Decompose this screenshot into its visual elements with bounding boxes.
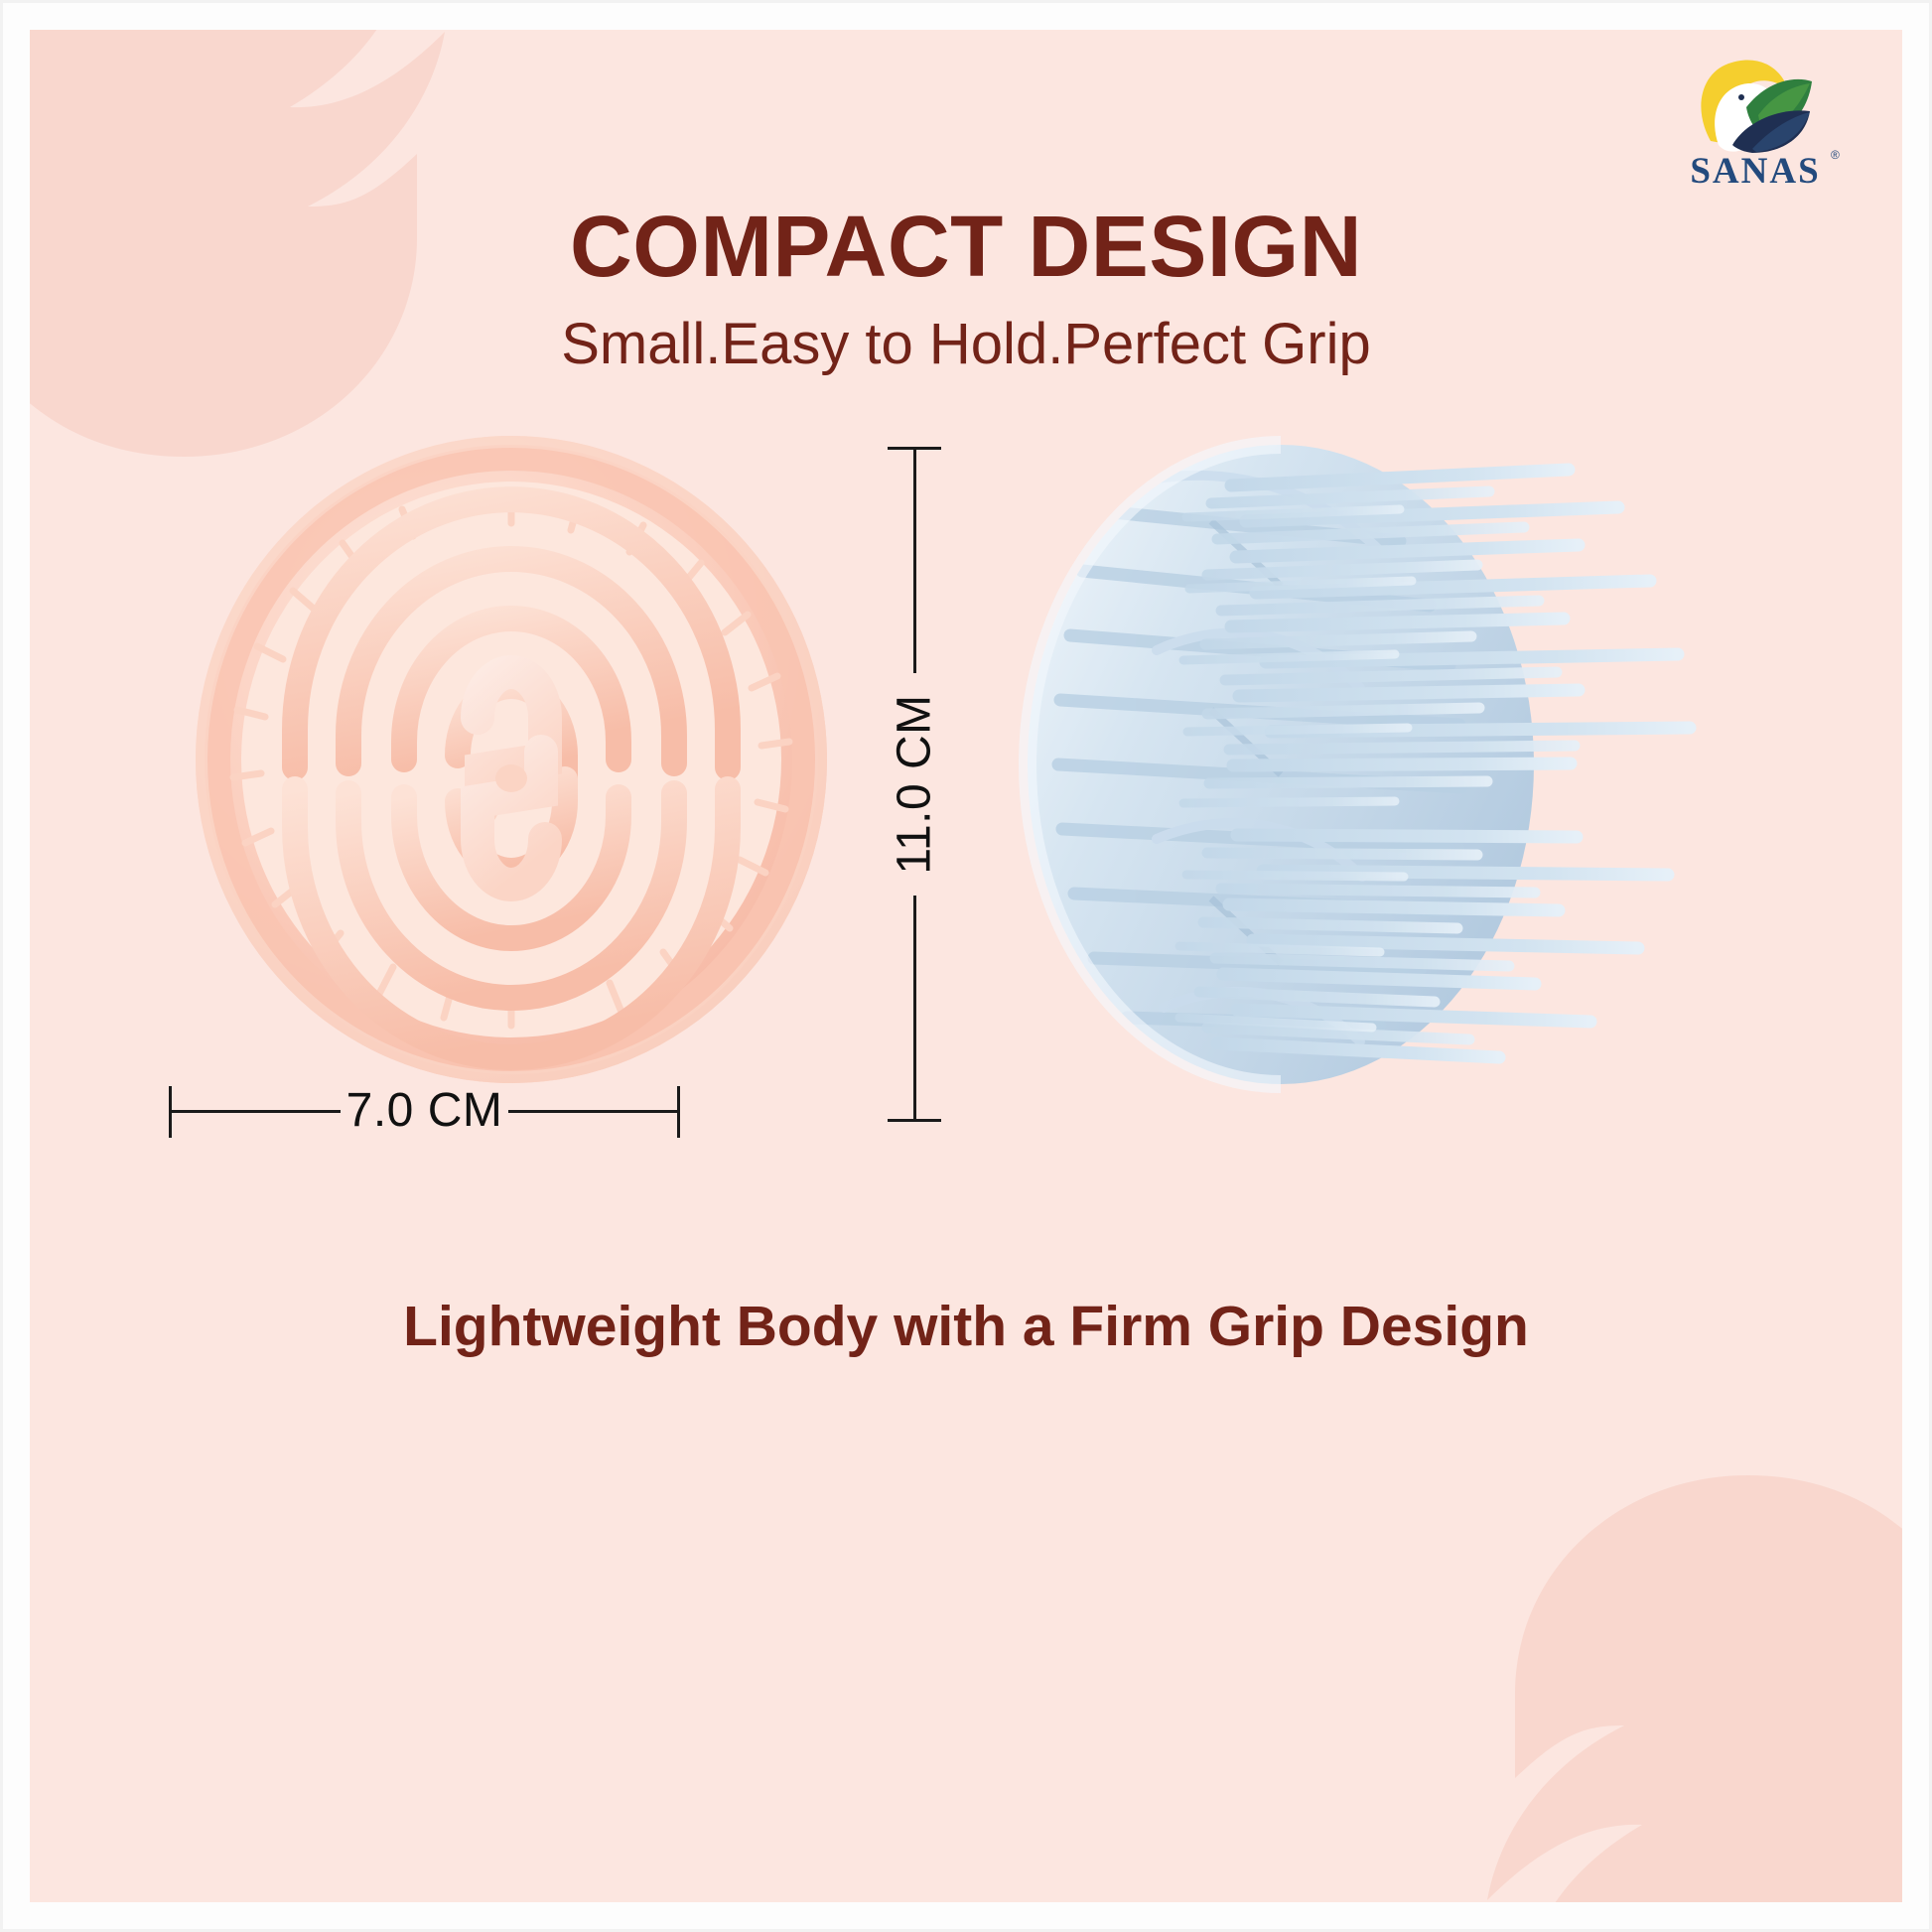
logo-registered-mark: ® [1831,148,1840,162]
width-dimension: 7.0 CM [169,1082,680,1142]
dim-cap-bottom [888,1119,941,1122]
dim-bar-top [913,450,916,673]
width-dimension-label: 7.0 CM [169,1082,680,1142]
pink-brush-center-nub [495,764,527,792]
leaf-flame-icon [1376,1436,1902,1902]
height-dimension: 11.0 CM [884,447,945,1122]
logo-dove-eye [1738,94,1744,100]
decor-leaf-bottom-right [1376,1436,1902,1902]
footer-tagline: Lightweight Body with a Firm Grip Design [30,1299,1902,1355]
pink-brush-image [184,432,839,1087]
height-dimension-label: 11.0 CM [888,694,942,874]
blue-brush-image [983,422,1876,1107]
sanas-brand-logo: SANAS ® [1649,50,1863,189]
logo-wordmark: SANAS [1690,151,1820,189]
outer-frame: SANAS ® COMPACT DESIGN Small.Easy to Hol… [0,0,1932,1932]
page-subtitle: Small.Easy to Hold.Perfect Grip [30,316,1902,373]
dim-bar-bottom [913,896,916,1119]
poster-canvas: SANAS ® COMPACT DESIGN Small.Easy to Hol… [30,30,1902,1902]
page-title: COMPACT DESIGN [30,204,1902,290]
